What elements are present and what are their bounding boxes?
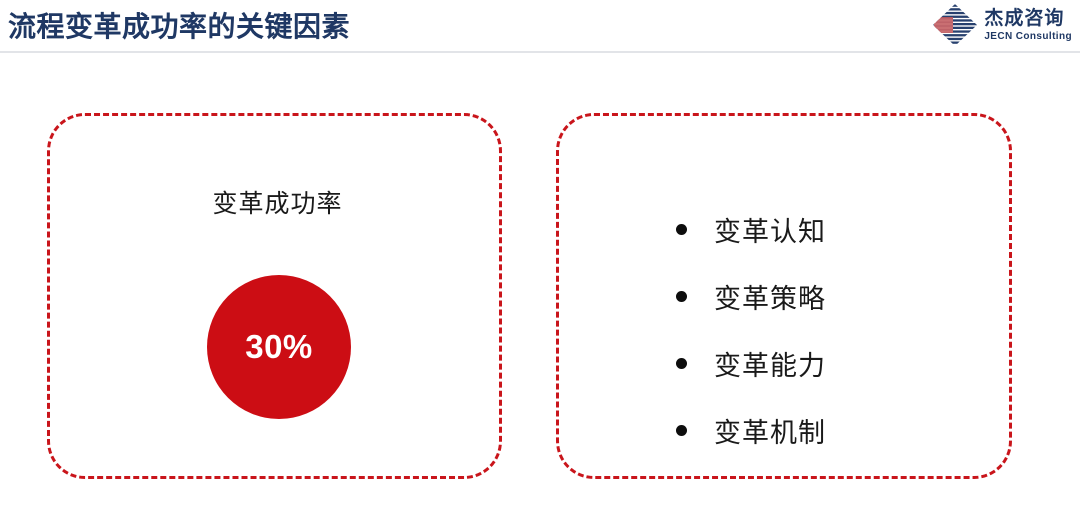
logo-text-block: 杰成咨询 JECN Consulting [984,9,1072,42]
key-factor-list: 变革认知 变革策略 变革能力 变革机制 [676,196,826,464]
header-divider [0,51,1080,53]
bullet-icon [676,358,687,369]
list-item: 变革策略 [676,263,826,330]
logo-name-cn: 杰成咨询 [984,9,1072,28]
slide-header: 流程变革成功率的关键因素 [0,0,1080,52]
list-item: 变革能力 [676,330,826,397]
brand-logo: 杰成咨询 JECN Consulting [933,3,1072,47]
bullet-icon [676,425,687,436]
page-title: 流程变革成功率的关键因素 [8,10,350,44]
list-item-label: 变革能力 [714,344,826,383]
success-rate-bubble: 30% [207,275,351,419]
panel-change-success-rate: 变革成功率 30% [47,113,502,479]
panel-key-factors: 变革认知 变革策略 变革能力 变革机制 [556,113,1012,479]
success-rate-label: 变革成功率 [50,184,505,220]
bullet-icon [676,291,687,302]
jecn-diamond-logo-icon [933,4,977,46]
list-item: 变革认知 [676,196,826,263]
list-item: 变革机制 [676,397,826,464]
list-item-label: 变革机制 [714,411,826,450]
bullet-icon [676,224,687,235]
logo-name-en: JECN Consulting [984,32,1072,42]
list-item-label: 变革认知 [714,210,826,249]
success-rate-value: 30% [245,328,313,366]
list-item-label: 变革策略 [714,277,826,316]
